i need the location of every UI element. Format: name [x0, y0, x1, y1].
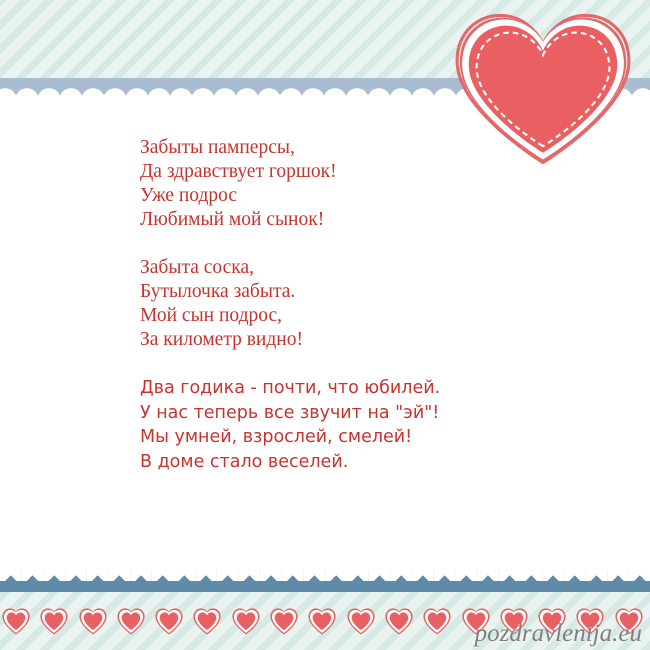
site-watermark: pozdravlenija.eu [475, 620, 642, 648]
poem-stanza: Забыты памперсы, Да здравствует горшок! … [140, 136, 580, 232]
poem-line: В доме стало веселей. [140, 450, 580, 475]
mini-heart-icon [78, 607, 108, 635]
mini-heart-icon [192, 607, 222, 635]
poem-line: Мы умней, взрослей, смелей! [140, 425, 580, 450]
poem-line: Забыта соска, [140, 256, 580, 280]
poem-line: Мой сын подрос, [140, 304, 580, 328]
poem-line: Бутылочка забыта. [140, 280, 580, 304]
mini-heart-icon [307, 607, 337, 635]
bottom-border: pozdravlenija.eu [0, 570, 650, 650]
mini-heart-icon [231, 607, 261, 635]
poem-line: Уже подрос [140, 184, 580, 208]
mini-heart-icon [154, 607, 184, 635]
mini-heart-icon [1, 607, 31, 635]
mini-heart-icon [384, 607, 414, 635]
poem-line: Два годика - почти, что юбилей. [140, 376, 580, 401]
greeting-card: Забыты памперсы, Да здравствует горшок! … [0, 0, 650, 650]
bottom-zigzag-edge [0, 570, 650, 581]
mini-heart-icon [422, 607, 452, 635]
poem-line: Да здравствует горшок! [140, 160, 580, 184]
mini-heart-icon [116, 607, 146, 635]
mini-heart-icon [39, 607, 69, 635]
poem-stanza: Забыта соска, Бутылочка забыта. Мой сын … [140, 256, 580, 352]
mini-heart-icon [269, 607, 299, 635]
mini-heart-icon [346, 607, 376, 635]
poem-body: Забыты памперсы, Да здравствует горшок! … [140, 136, 580, 474]
poem-line: Любимый мой сынок! [140, 208, 580, 232]
poem-line: У нас теперь все звучит на "эй"! [140, 401, 580, 426]
poem-stanza: Два годика - почти, что юбилей. У нас те… [140, 376, 580, 474]
poem-line: За километр видно! [140, 328, 580, 352]
poem-line: Забыты памперсы, [140, 136, 580, 160]
